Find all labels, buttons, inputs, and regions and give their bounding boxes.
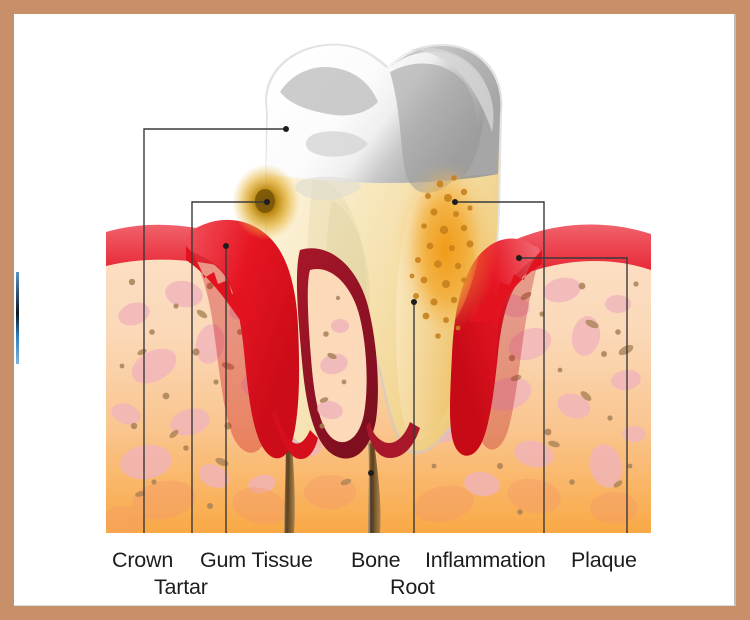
dental-diagram: Crown Tartar Gum Tissue Bone Root Inflam…: [14, 14, 736, 606]
tooth-cross-section-svg: [14, 14, 736, 606]
image-canvas: Crown Tartar Gum Tissue Bone Root Inflam…: [14, 14, 736, 606]
label-tartar[interactable]: Tartar: [154, 575, 208, 600]
image-frame: Crown Tartar Gum Tissue Bone Root Inflam…: [0, 0, 750, 620]
label-plaque[interactable]: Plaque: [571, 548, 637, 573]
label-gum-tissue[interactable]: Gum Tissue: [200, 548, 313, 573]
label-crown[interactable]: Crown: [112, 548, 173, 573]
label-inflammation[interactable]: Inflammation: [425, 548, 546, 573]
label-root[interactable]: Root: [390, 575, 435, 600]
label-bone[interactable]: Bone: [351, 548, 400, 573]
